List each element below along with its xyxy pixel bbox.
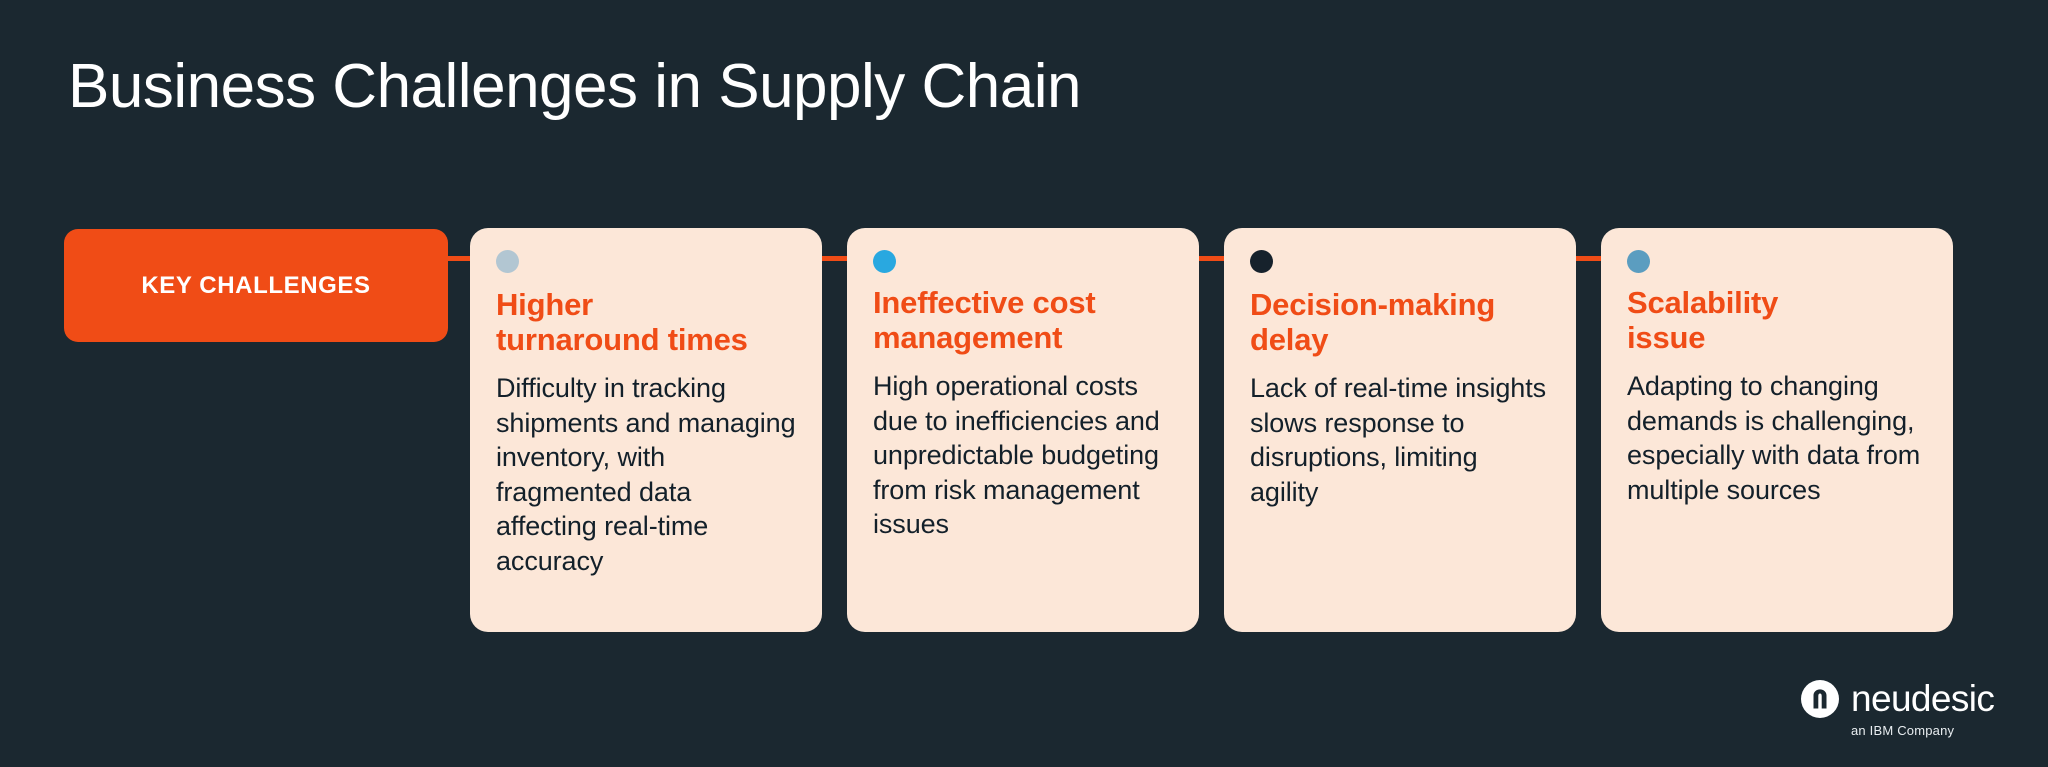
challenge-card-body: Difficulty in tracking shipments and man…: [496, 371, 796, 578]
brand-logo-tagline: an IBM Company: [1800, 723, 2000, 738]
challenge-card-title: Scalability issue: [1627, 285, 1927, 355]
status-dot-icon: [1627, 250, 1650, 273]
challenge-card-title: Ineffective cost management: [873, 285, 1173, 355]
challenge-card: Decision-making delay Lack of real-time …: [1224, 228, 1576, 632]
challenge-card: Ineffective cost management High operati…: [847, 228, 1199, 632]
challenge-card-title: Higher turnaround times: [496, 287, 796, 357]
status-dot-icon: [1250, 250, 1273, 273]
challenge-card: Higher turnaround times Difficulty in tr…: [470, 228, 822, 632]
challenge-card-body: High operational costs due to inefficien…: [873, 369, 1173, 542]
challenge-card-body: Adapting to changing demands is challeng…: [1627, 369, 1927, 507]
key-challenges-diagram: KEY CHALLENGES Higher turnaround times D…: [0, 228, 2048, 638]
connector-line-badge-to-card-1: [448, 256, 472, 261]
challenge-card-body: Lack of real-time insights slows respons…: [1250, 371, 1550, 509]
connector-line-card-1-to-card-2: [822, 256, 848, 261]
page-title: Business Challenges in Supply Chain: [68, 52, 1081, 121]
challenge-card: Scalability issue Adapting to changing d…: [1601, 228, 1953, 632]
connector-line-card-3-to-card-4: [1576, 256, 1602, 261]
status-dot-icon: [496, 250, 519, 273]
neudesic-circle-n-logo-icon: [1800, 679, 1840, 719]
connector-line-card-2-to-card-3: [1199, 256, 1225, 261]
brand-logo: neudesic an IBM Company: [1800, 677, 2000, 745]
status-dot-icon: [873, 250, 896, 273]
key-challenges-badge: KEY CHALLENGES: [64, 229, 448, 342]
brand-logo-row: neudesic: [1800, 677, 2000, 721]
slide-canvas: Business Challenges in Supply Chain KEY …: [0, 0, 2048, 767]
challenge-card-title: Decision-making delay: [1250, 287, 1550, 357]
brand-logo-wordmark: neudesic: [1851, 679, 1994, 719]
key-challenges-badge-label: KEY CHALLENGES: [141, 272, 370, 300]
